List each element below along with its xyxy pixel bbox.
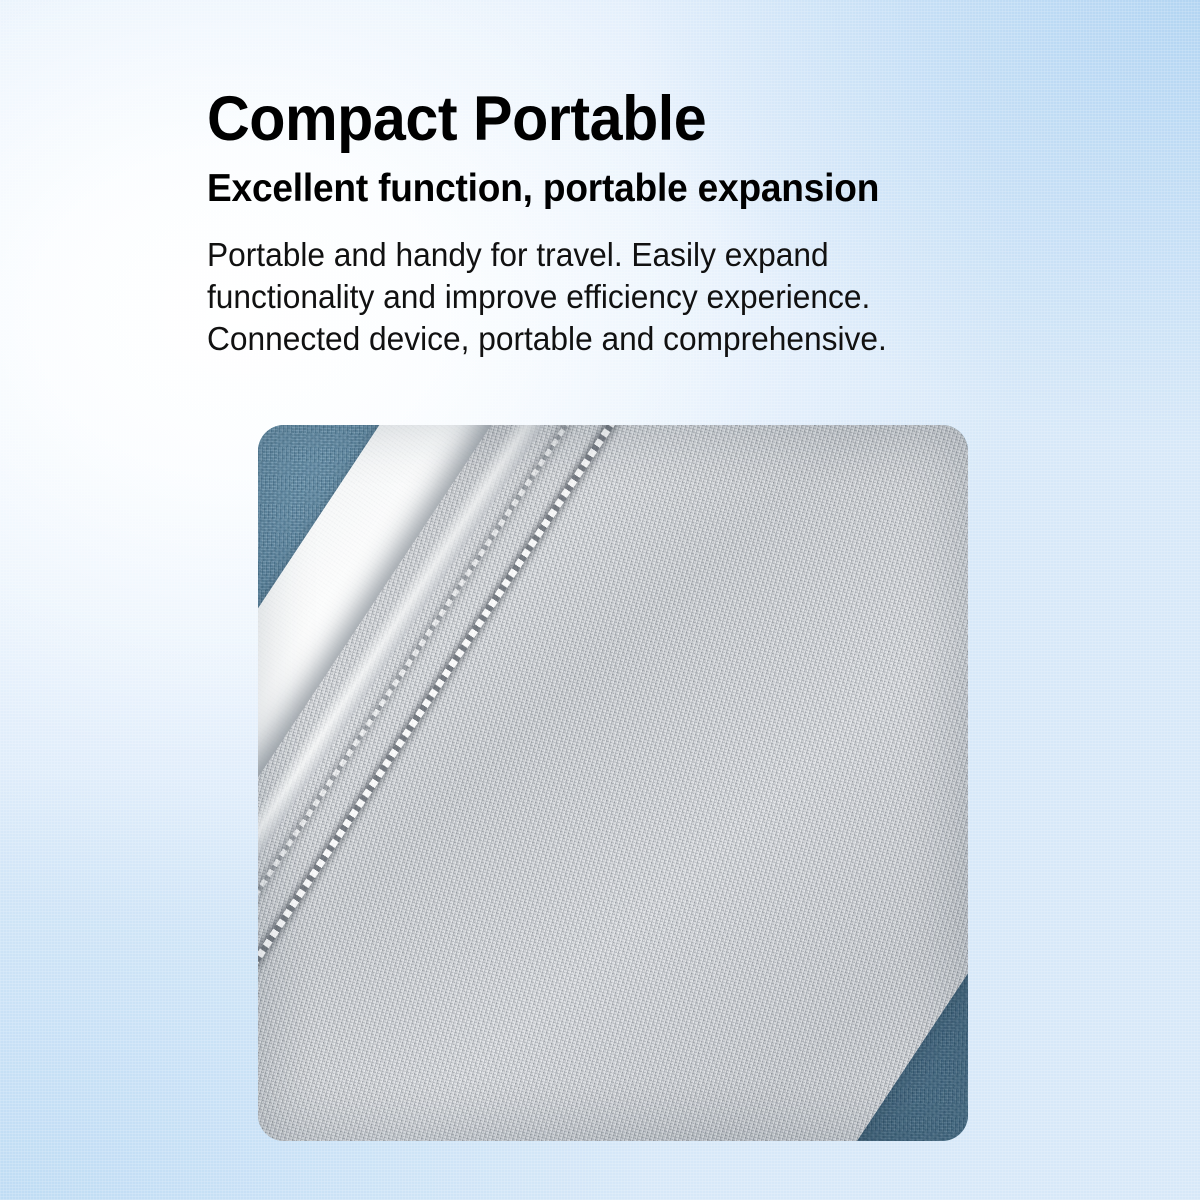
marketing-copy: Compact Portable Excellent function, por… (207, 86, 1067, 360)
page-subtitle: Excellent function, portable expansion (207, 166, 1024, 212)
description-paragraph: Portable and handy for travel. Easily ex… (207, 234, 1033, 360)
page-title: Compact Portable (207, 86, 1015, 152)
description-line-2: functionality and improve efficiency exp… (207, 276, 1033, 318)
product-feature-banner: Compact Portable Excellent function, por… (0, 0, 1200, 1200)
description-line-3: Connected device, portable and comprehen… (207, 318, 1033, 360)
description-line-1: Portable and handy for travel. Easily ex… (207, 234, 1033, 276)
product-photo: BAFO® (258, 425, 968, 1141)
